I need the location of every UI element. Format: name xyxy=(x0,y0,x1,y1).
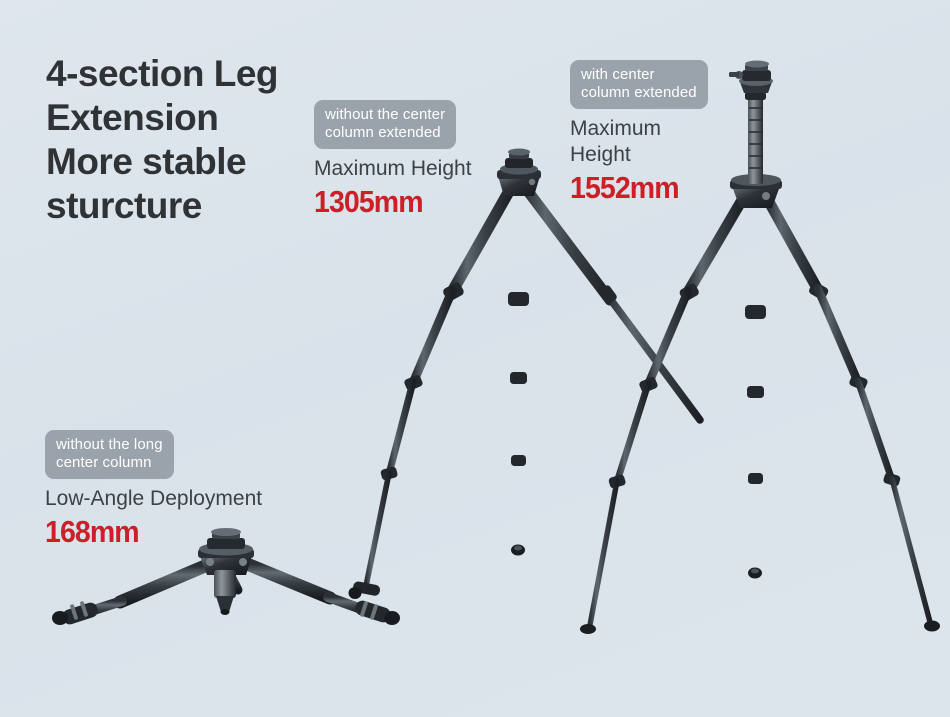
badge-with-center-column: with center column extended xyxy=(570,60,708,109)
short-center-column xyxy=(214,570,236,615)
leg-rear-left xyxy=(580,200,742,634)
product-feature-graphic: 4-section Leg Extension More stable stur… xyxy=(0,0,950,717)
callout-value: 1305mm xyxy=(314,185,459,219)
center-column-extended xyxy=(745,92,766,184)
callout-value: 1552mm xyxy=(570,171,697,205)
page-title: 4-section Leg Extension More stable stur… xyxy=(46,52,346,228)
subtitle-line-1: Low-Angle Deployment xyxy=(45,486,262,512)
badge-line-1: without the long xyxy=(56,436,163,454)
badge-line-2: center column xyxy=(56,454,163,472)
badge-line-1: without the center xyxy=(325,106,445,124)
foot xyxy=(511,545,525,556)
foot xyxy=(580,624,596,634)
headline-line-2: Extension xyxy=(46,96,346,140)
foot xyxy=(52,601,100,626)
leg-left xyxy=(52,566,205,626)
callout-subtitle: Maximum Height xyxy=(314,156,472,182)
badge-without-long-center-column: without the long center column xyxy=(45,430,174,479)
leg-front-left xyxy=(349,186,513,599)
callout-subtitle: Low-Angle Deployment xyxy=(45,486,262,512)
badge-line-2: column extended xyxy=(325,124,445,142)
foot xyxy=(349,581,381,599)
subtitle-line-2: Height xyxy=(570,142,708,168)
callout-middle-tripod: without the center column extended Maxim… xyxy=(314,100,472,219)
headline-line-3: More stable xyxy=(46,140,346,184)
callout-right-tripod: with center column extended Maximum Heig… xyxy=(570,60,708,205)
tripod-hub xyxy=(497,149,541,197)
leg-rear-right xyxy=(524,186,700,420)
leg-rear-right xyxy=(768,200,940,632)
foot xyxy=(748,568,762,579)
headline-line-4: sturcture xyxy=(46,184,346,228)
callout-low-angle-tripod: without the long center column Low-Angle… xyxy=(45,430,262,549)
foot xyxy=(924,621,940,632)
badge-without-center-column: without the center column extended xyxy=(314,100,456,149)
headline-line-1: 4-section Leg xyxy=(46,52,346,96)
badge-line-1: with center xyxy=(581,66,697,84)
subtitle-line-1: Maximum Height xyxy=(314,156,472,182)
foot xyxy=(353,599,400,625)
leg-center-front xyxy=(508,178,529,556)
callout-value: 168mm xyxy=(45,515,245,549)
ball-head xyxy=(729,61,773,94)
leg-center-front xyxy=(745,192,766,579)
badge-line-2: column extended xyxy=(581,84,697,102)
callout-subtitle: Maximum Height xyxy=(570,116,708,168)
subtitle-line-1: Maximum xyxy=(570,116,708,142)
